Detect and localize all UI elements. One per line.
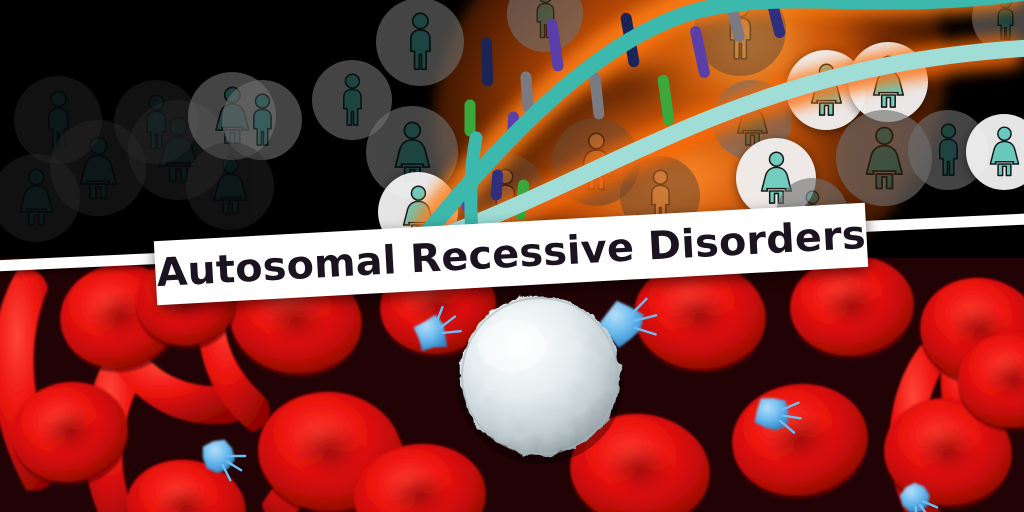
dna-base-pair (526, 77, 528, 107)
dna-base-pair (696, 31, 705, 72)
blood-smear-scene (0, 258, 1024, 512)
dna-base-pair (496, 175, 497, 195)
dna-strand-cross (471, 138, 476, 236)
dna-base-pair (552, 24, 558, 66)
dna-base-pair (663, 80, 669, 120)
infographic-banner: Autosomal Recessive Disorders (0, 0, 1024, 512)
dna-base-pair (595, 78, 599, 114)
blood-cells-illustration (0, 258, 1024, 512)
dna-base-pair (486, 43, 487, 81)
